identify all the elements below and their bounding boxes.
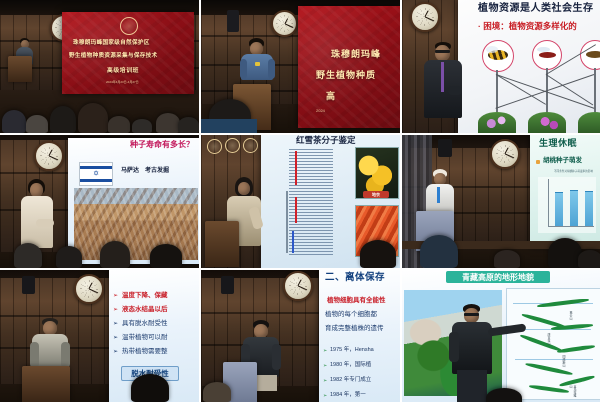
panel-desiccation-tolerance: ➢ 温度下降、保藏 ➢ 液态水结晶以后 ➢ 具有脱水耐受性 ➢ 温带植物可以耐 … bbox=[0, 270, 199, 402]
slide-title: 二、离体保存 bbox=[325, 273, 385, 283]
wall-clock-icon bbox=[490, 139, 520, 169]
arrow-bullet-icon: ➢ bbox=[113, 306, 118, 313]
slide-date: 2024年4月23日-4月27日 bbox=[106, 81, 139, 84]
slide-paragraph-1: 植物细胞具有全能性 bbox=[327, 298, 386, 305]
photo-collage-grid: 珠穆朗玛峰国家级自然保护区 野生植物种质资源采集与保存技术 高级培训班 2024… bbox=[0, 0, 600, 400]
tree-clade-red bbox=[295, 151, 297, 185]
slide-bullet: · 困境：植物资源多样化的 bbox=[478, 22, 577, 31]
podium bbox=[205, 221, 239, 267]
projection-screen-bullets: 二、离体保存 植物细胞具有全能性 植物的每个细胞都 育成完整植株的遗传 ➢ 19… bbox=[319, 270, 400, 402]
wall-emblem-icon bbox=[225, 138, 240, 153]
chart-subtitle: 不同条件对胡桃种子萌发率的影响 bbox=[554, 171, 593, 174]
plant-dome-2 bbox=[528, 112, 566, 133]
chart-bar bbox=[570, 190, 578, 226]
slide-title: 种子寿命有多长？ bbox=[130, 141, 194, 149]
slide-paragraph-2: 植物的每个细胞都 bbox=[325, 312, 377, 319]
speaker-box-icon bbox=[22, 276, 35, 294]
slide-title-line-3: 高级培训班 bbox=[107, 69, 139, 75]
timeline-item-4: 1984 年，第一 bbox=[330, 393, 366, 399]
mountain-ridge bbox=[557, 344, 595, 353]
timeline-item-3: 1982 年专门成立 bbox=[330, 378, 371, 384]
slide-title: 植物资源是人类社会生存 bbox=[478, 4, 594, 14]
projection-screen-map: 青藏高原的地形地貌 昆仑山 唐古拉山 冈底斯山 喜马拉雅山 bbox=[402, 270, 600, 402]
slide-bullet: 胡桃种子萌发 bbox=[543, 158, 582, 165]
name-badge bbox=[255, 62, 260, 66]
projection-screen-title: 珠穆朗玛峰国家级自然保护区 野生植物种质资源采集与保存技术 高级培训班 2024… bbox=[62, 12, 194, 94]
chart-bar bbox=[585, 191, 593, 226]
wall-clock-icon bbox=[410, 2, 440, 32]
timeline-item-2: 1980 年，国际植 bbox=[330, 363, 371, 369]
tree-clade-red bbox=[295, 197, 297, 223]
tree-backbone bbox=[286, 191, 288, 253]
panel-red-snow-tea: 红雪茶分子鉴定 地衣 红雪茶 bbox=[201, 135, 400, 268]
presenter-figure bbox=[448, 304, 496, 402]
map-label-4: 喜马拉雅山 bbox=[569, 385, 577, 399]
podium bbox=[8, 56, 32, 82]
slide-bullet-4: 温带植物可以耐 bbox=[122, 335, 168, 342]
audience-silhouettes bbox=[0, 88, 199, 133]
arrow-bullet-icon: ➢ bbox=[323, 363, 327, 369]
audience-head bbox=[131, 374, 169, 402]
map-label-3: 冈底斯山 bbox=[562, 355, 566, 367]
audience-shoulders bbox=[201, 119, 257, 133]
slide-title-line-2: 野生植物种质资源采集与保存技术 bbox=[69, 54, 157, 60]
arrow-bullet-icon: ➢ bbox=[323, 378, 327, 384]
slide-title: 生理休眠 bbox=[539, 139, 577, 148]
trousers bbox=[457, 370, 487, 402]
university-seal-icon bbox=[120, 17, 138, 35]
speaker-box-icon bbox=[227, 10, 239, 32]
bullet-marker-icon bbox=[536, 160, 540, 164]
panel-seed-longevity: 种子寿命有多长？ ✡ 马萨达 考古发掘 bbox=[0, 135, 199, 268]
speaker-box-icon bbox=[221, 276, 234, 294]
presenter-figure bbox=[424, 42, 464, 120]
speaker-box-icon bbox=[438, 139, 452, 157]
panel-plant-resources: 植物资源是人类社会生存 · 困境：植物资源多样化的 bbox=[402, 0, 600, 133]
mountain-ridge bbox=[520, 334, 563, 353]
arrow-bullet-icon: ➢ bbox=[113, 320, 118, 327]
star-of-david-icon: ✡ bbox=[93, 171, 99, 178]
projection-screen-title: 珠穆朗玛峰 野生植物种质 高 2024 bbox=[298, 6, 400, 128]
wall-clock-icon bbox=[283, 271, 313, 301]
slide-date: 2024 bbox=[316, 109, 325, 113]
panel-in-vitro-conservation: 二、离体保存 植物细胞具有全能性 植物的每个细胞都 育成完整植株的遗传 ➢ 19… bbox=[201, 270, 400, 402]
slide-bullet-5: 热带植物需要整 bbox=[122, 349, 168, 356]
network-node-bee bbox=[482, 40, 514, 72]
chart-y-axis bbox=[548, 179, 549, 227]
slide-bullet-1: 温度下降、保藏 bbox=[122, 293, 168, 300]
slide-title-line-3: 高 bbox=[326, 92, 335, 101]
wall-clock-icon bbox=[34, 141, 64, 171]
slide-bullet-2: 液态水结晶以后 bbox=[122, 307, 168, 314]
slide-title: 青藏高原的地形地貌 bbox=[446, 271, 550, 283]
audience-silhouettes bbox=[0, 233, 199, 268]
glasses-icon bbox=[464, 313, 479, 316]
slide-title: 红雪茶分子鉴定 bbox=[296, 136, 356, 145]
mountain-ridge bbox=[559, 375, 595, 388]
arrow-bullet-icon: ➢ bbox=[113, 292, 118, 299]
wall-emblem-icon bbox=[207, 139, 222, 154]
timeline-item-1: 1975 年，Hensha bbox=[330, 348, 374, 354]
slide-title-line-2: 野生植物种质 bbox=[316, 71, 376, 80]
panel-tibetan-plateau: 青藏高原的地形地貌 昆仑山 唐古拉山 冈底斯山 喜马拉雅山 bbox=[402, 270, 600, 402]
israel-flag-icon: ✡ bbox=[79, 162, 113, 186]
arrow-bullet-icon: ➢ bbox=[113, 348, 118, 355]
podium bbox=[22, 366, 70, 402]
map-label-2: 唐古拉山 bbox=[547, 333, 551, 345]
map-label-1: 昆仑山 bbox=[569, 311, 573, 320]
wall-emblem-icon bbox=[243, 138, 258, 153]
arrow-bullet-icon: ➢ bbox=[113, 334, 118, 341]
audience-silhouettes bbox=[402, 223, 600, 268]
lanyard bbox=[437, 187, 440, 203]
mountain-range-line-map: 昆仑山 唐古拉山 冈底斯山 喜马拉雅山 bbox=[506, 288, 600, 400]
slide-caption: 马萨达 考古发掘 bbox=[121, 168, 169, 174]
slide-paragraph-3: 育成完整植株的遗传 bbox=[325, 326, 384, 333]
panel-opening-ceremony: 珠穆朗玛峰国家级自然保护区 野生植物种质资源采集与保存技术 高级培训班 2024… bbox=[0, 0, 199, 133]
plant-dome-3 bbox=[578, 112, 600, 133]
arrow-bullet-icon: ➢ bbox=[323, 348, 327, 354]
audience-head bbox=[360, 240, 396, 268]
network-node-insect bbox=[580, 40, 600, 70]
lanyard bbox=[441, 62, 444, 92]
slide-title-line-1: 珠穆朗玛峰 bbox=[331, 50, 381, 59]
wall-clock-icon bbox=[74, 274, 104, 304]
slide-title-line-1: 珠穆朗玛峰国家级自然保护区 bbox=[73, 41, 150, 47]
arrow-bullet-icon: ➢ bbox=[323, 393, 327, 399]
projection-screen-diagram: 植物资源是人类社会生存 · 困境：植物资源多样化的 bbox=[458, 0, 600, 133]
panel-physiological-dormancy: 生理休眠 胡桃种子萌发 不同条件对胡桃种子萌发率的影响 bbox=[402, 135, 600, 268]
audience-head bbox=[203, 382, 231, 402]
wall-clock-icon bbox=[271, 10, 298, 37]
glasses-icon bbox=[435, 50, 450, 53]
chart-bar bbox=[555, 192, 563, 226]
presenter-figure bbox=[241, 38, 277, 90]
plant-dome-1 bbox=[478, 112, 516, 133]
network-edge bbox=[546, 74, 594, 105]
photo-label-1: 地衣 bbox=[363, 191, 389, 198]
panel-presenter-title-slide: 珠穆朗玛峰 野生植物种质 高 2024 bbox=[201, 0, 400, 133]
slide-bullet-3: 具有脱水耐受性 bbox=[122, 321, 168, 328]
tree-clade-blue bbox=[292, 231, 294, 253]
